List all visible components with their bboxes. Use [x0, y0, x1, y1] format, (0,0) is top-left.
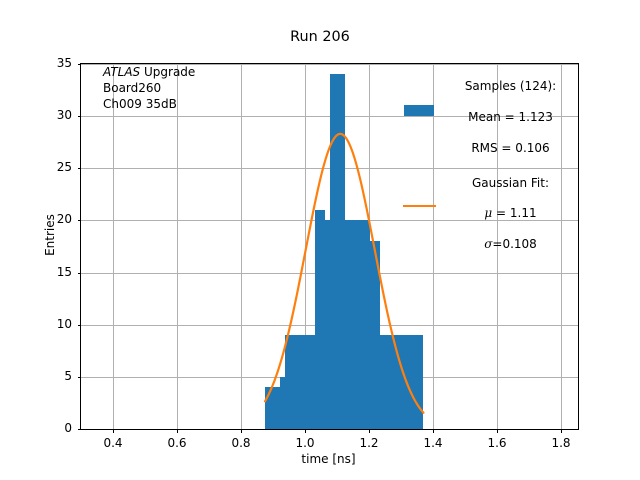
- legend-patch-handle: [401, 105, 437, 116]
- y-tick: [78, 273, 82, 274]
- x-tick: [369, 429, 370, 433]
- samples-rms: RMS = 0.106: [471, 141, 549, 155]
- legend-entry-gaussian-fit: Gaussian Fit: μ = 1.11 σ=0.108: [401, 160, 578, 252]
- x-tick-label: 1.8: [531, 436, 591, 450]
- x-tick: [177, 429, 178, 433]
- fit-line-swatch-icon: [403, 205, 436, 207]
- x-tick: [113, 429, 114, 433]
- y-tick-label: 0: [32, 421, 72, 435]
- atlas-label: ATLAS: [103, 65, 140, 79]
- y-tick: [78, 168, 82, 169]
- x-tick-label: 0.8: [211, 436, 271, 450]
- samples-mean: Mean = 1.123: [468, 110, 553, 124]
- y-tick: [78, 325, 82, 326]
- y-tick: [78, 64, 82, 65]
- x-tick-label: 1.4: [403, 436, 463, 450]
- x-tick-label: 0.6: [147, 436, 207, 450]
- y-tick: [78, 116, 82, 117]
- x-tick-label: 0.4: [83, 436, 143, 450]
- x-tick: [497, 429, 498, 433]
- y-tick-label: 25: [32, 160, 72, 174]
- y-tick: [78, 377, 82, 378]
- fit-title: Gaussian Fit:: [472, 176, 549, 190]
- x-tick-label: 1.2: [339, 436, 399, 450]
- y-tick-label: 10: [32, 317, 72, 331]
- legend-label-samples: Samples (124): Mean = 1.123 RMS = 0.106: [443, 64, 578, 156]
- annotation-line-3: Ch009 35dB: [103, 97, 195, 113]
- x-tick: [561, 429, 562, 433]
- fit-sigma-value: =0.108: [492, 237, 536, 251]
- legend-entry-samples: Samples (124): Mean = 1.123 RMS = 0.106: [401, 64, 578, 156]
- y-tick-label: 35: [32, 56, 72, 70]
- y-tick: [78, 220, 82, 221]
- legend-line-handle: [401, 205, 437, 207]
- x-tick-label: 1.0: [275, 436, 335, 450]
- legend-label-gaussian-fit: Gaussian Fit: μ = 1.11 σ=0.108: [443, 160, 578, 252]
- samples-swatch-icon: [404, 105, 434, 116]
- samples-title: Samples (124):: [465, 79, 556, 93]
- atlas-annotation: ATLAS Upgrade Board260 Ch009 35dB: [103, 65, 195, 113]
- x-tick-label: 1.6: [467, 436, 527, 450]
- y-axis-label: Entries: [43, 175, 57, 295]
- x-tick: [433, 429, 434, 433]
- matplotlib-figure: Run 206 ATLAS Upgrade Board260 Ch009 35d…: [0, 0, 640, 480]
- x-axis-label: time [ns]: [80, 452, 577, 466]
- gaussian-fit-path: [265, 134, 423, 413]
- upgrade-label: Upgrade: [140, 65, 195, 79]
- y-tick-label: 30: [32, 108, 72, 122]
- y-tick-label: 5: [32, 369, 72, 383]
- x-tick: [241, 429, 242, 433]
- x-tick: [305, 429, 306, 433]
- annotation-line-2: Board260: [103, 81, 195, 97]
- fit-mu-value: = 1.11: [492, 206, 536, 220]
- page-title: Run 206: [0, 29, 640, 45]
- plot-area: ATLAS Upgrade Board260 Ch009 35dB Sample…: [80, 63, 579, 430]
- y-tick: [78, 429, 82, 430]
- annotation-line-1: ATLAS Upgrade: [103, 65, 195, 81]
- legend: Samples (124): Mean = 1.123 RMS = 0.106 …: [401, 64, 578, 256]
